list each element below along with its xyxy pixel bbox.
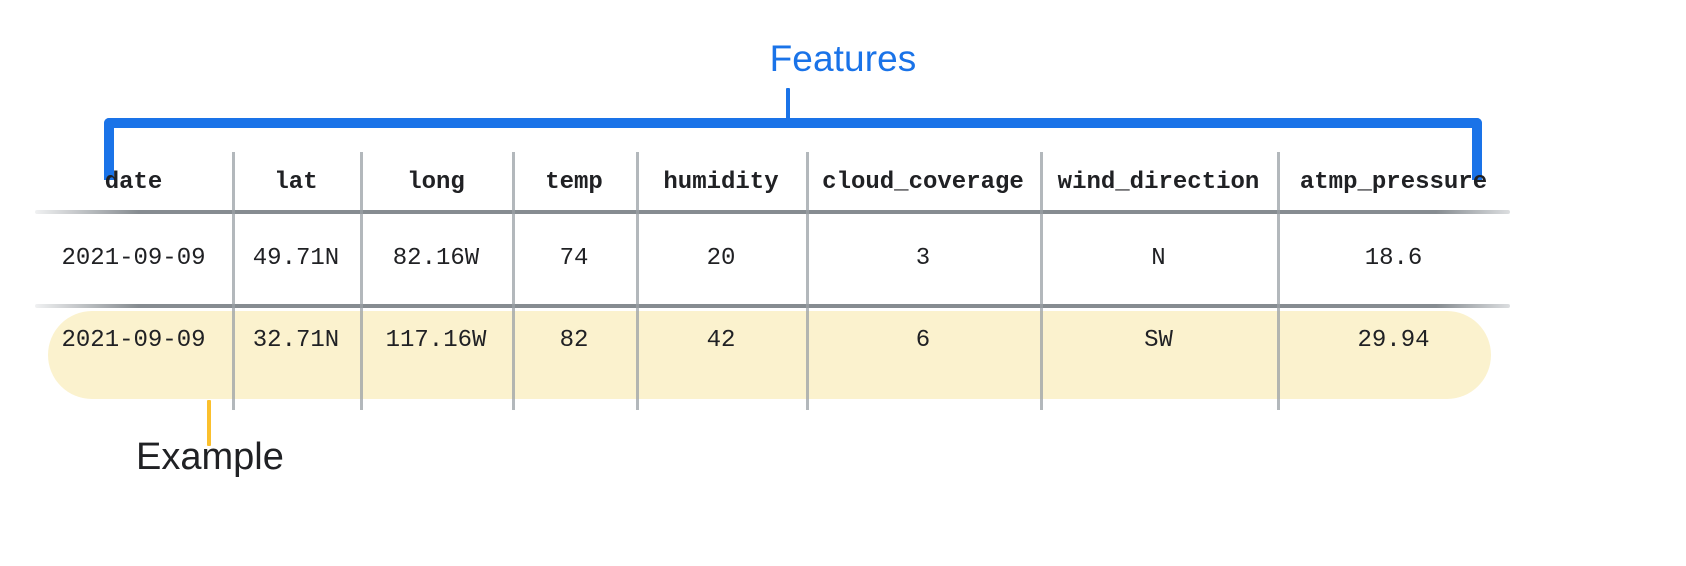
cell-long: 82.16W bbox=[360, 230, 512, 286]
cell-date: 2021-09-09 bbox=[35, 312, 232, 368]
cell-wind-direction: N bbox=[1040, 230, 1277, 286]
header-rule bbox=[35, 210, 1510, 214]
example-annotation-label: Example bbox=[136, 436, 284, 479]
column-header-wind-direction: wind_direction bbox=[1040, 154, 1277, 210]
column-header-atmp-pressure: atmp_pressure bbox=[1277, 154, 1510, 210]
column-header-temp: temp bbox=[512, 154, 636, 210]
cell-lat: 49.71N bbox=[232, 230, 360, 286]
cell-date: 2021-09-09 bbox=[35, 230, 232, 286]
annotated-table-figure: Features date lat long temp humidity clo bbox=[0, 0, 1686, 566]
column-header-long: long bbox=[360, 154, 512, 210]
data-table: date lat long temp humidity cloud_covera… bbox=[0, 0, 1686, 566]
cell-humidity: 42 bbox=[636, 312, 806, 368]
cell-wind-direction: SW bbox=[1040, 312, 1277, 368]
cell-atmp-pressure: 29.94 bbox=[1277, 312, 1510, 368]
cell-atmp-pressure: 18.6 bbox=[1277, 230, 1510, 286]
table-row: 2021-09-09 49.71N 82.16W 74 20 3 N 18.6 bbox=[35, 230, 1510, 286]
cell-long: 117.16W bbox=[360, 312, 512, 368]
cell-lat: 32.71N bbox=[232, 312, 360, 368]
table-row-highlighted: 2021-09-09 32.71N 117.16W 82 42 6 SW 29.… bbox=[35, 312, 1510, 368]
row-rule bbox=[35, 304, 1510, 308]
cell-cloud-coverage: 6 bbox=[806, 312, 1040, 368]
column-header-lat: lat bbox=[232, 154, 360, 210]
cell-humidity: 20 bbox=[636, 230, 806, 286]
column-header-date: date bbox=[35, 154, 232, 210]
column-header-humidity: humidity bbox=[636, 154, 806, 210]
table-header-row: date lat long temp humidity cloud_covera… bbox=[35, 154, 1510, 210]
cell-cloud-coverage: 3 bbox=[806, 230, 1040, 286]
column-header-cloud-coverage: cloud_coverage bbox=[806, 154, 1040, 210]
cell-temp: 74 bbox=[512, 230, 636, 286]
cell-temp: 82 bbox=[512, 312, 636, 368]
